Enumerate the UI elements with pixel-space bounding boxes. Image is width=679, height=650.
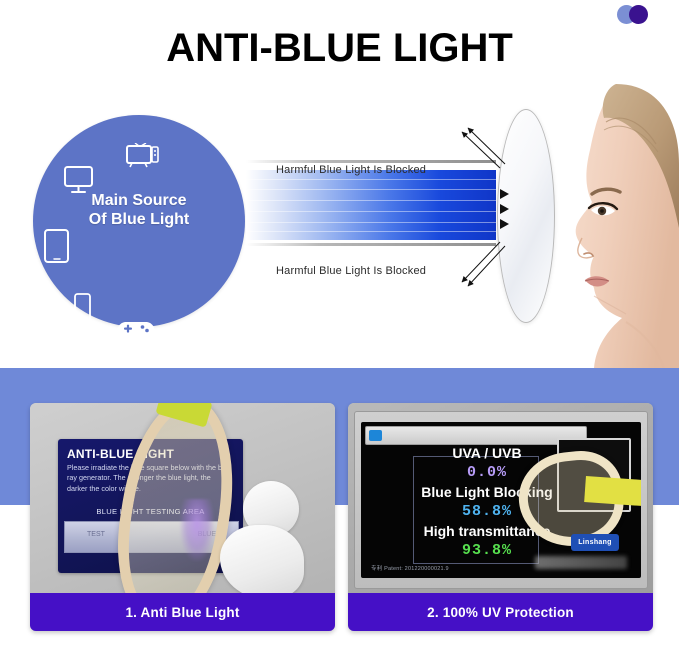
source-label-line1: Main Source [91,192,186,209]
brand-badge: Linshang [571,534,619,551]
uv-protection-photo: UVA / UVB 0.0% Blue Light Blocking 58.8%… [348,403,653,593]
card-caption-uv-protection: 2. 100% UV Protection [348,593,653,631]
brand-logo-dots [617,4,661,26]
uv-tester-screen: UVA / UVB 0.0% Blue Light Blocking 58.8%… [361,422,641,578]
patent-text: 专利 Patent: 201220000021.9 [371,564,449,572]
smartphone-icon [74,293,92,323]
monitor-icon [64,166,94,194]
gamepad-icon [115,317,157,343]
beam-striations [246,170,496,240]
uv-tester-device: UVA / UVB 0.0% Blue Light Blocking 58.8%… [354,411,648,589]
swatch-label-left: TEST [87,531,105,538]
beam-edge-bottom [246,243,496,246]
anti-blue-light-photo: ANTI-BLUE LIGHT Please irradiate the blu… [30,403,335,593]
woman-profile-photo [560,78,679,368]
feature-card-anti-blue-light[interactable]: ANTI-BLUE LIGHT Please irradiate the blu… [30,403,335,631]
source-label-line2: Of Blue Light [89,211,189,228]
hero-diagram: Main Source Of Blue Light Harmful Blue L… [0,86,679,358]
tester-indicator-icon [369,430,382,441]
sunglasses-temple-arm [584,476,641,506]
beam-label-bottom: Harmful Blue Light Is Blocked [276,265,426,277]
blue-light-source-label: Main Source Of Blue Light [33,191,245,229]
tester-slot [365,426,587,445]
eyeglass-lens [497,109,555,323]
gloved-hand-lower [220,525,304,593]
beam-label-top: Harmful Blue Light Is Blocked [276,164,426,176]
logo-dot-right-icon [629,5,648,24]
tablet-icon [44,229,70,263]
page-title: ANTI-BLUE LIGHT [0,26,679,71]
tv-icon [126,143,160,169]
feature-card-uv-protection[interactable]: UVA / UVB 0.0% Blue Light Blocking 58.8%… [348,403,653,631]
beam-edge-top [246,160,496,163]
card-caption-anti-blue-light: 1. Anti Blue Light [30,593,335,631]
product-infographic: ANTI-BLUE LIGHT [0,0,679,650]
blue-light-beam [246,170,496,240]
blurred-model-text [535,556,627,569]
